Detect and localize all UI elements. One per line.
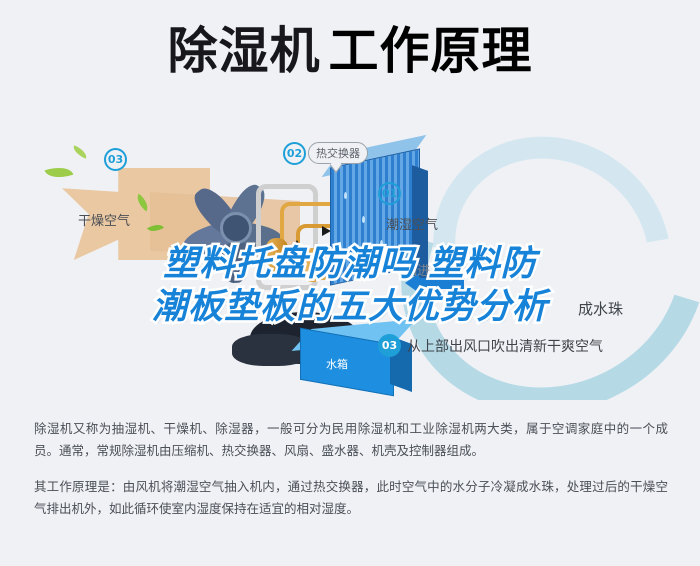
water-droplet-icon [344,192,347,199]
partial-text-intake: 抽进 [404,260,430,279]
fan-hub [220,212,252,244]
page-title: 除湿机工作原理 [0,22,700,80]
callout-number-02: 02 [283,142,306,165]
callout-number-01: 01 [378,182,401,205]
title-secondary: 工作原理 [329,22,533,80]
flow-arrow-up-icon [292,240,302,249]
water-droplet-icon [380,240,383,247]
humid-air-inflow-arrow-icon [418,278,464,289]
water-tank-label: 水箱 [326,356,348,372]
callout-number-03-bottom: 03 [378,334,401,357]
title-primary: 除湿机 [168,22,321,80]
callout-label-heat-exchanger: 热交换器 [308,142,368,164]
callout-bottom-note: 03 从上部出风口吹出清新干爽空气 [378,334,603,357]
poster-root: 除湿机工作原理 [0,0,700,566]
dehumidifier-diagram: 水箱 03 干燥空气 02 热交换器 01 潮湿空气 抽进 成水珠 03 从上部… [0,120,700,400]
water-droplet-icon [352,250,355,257]
article-body: 除湿机又称为抽湿机、干燥机、除湿器，一般可分为民用除湿机和工业除湿机两大类，属于… [34,418,668,534]
callout-label-outlet: 从上部出风口吹出清新干爽空气 [407,336,603,356]
callout-label-dry-air: 干燥空气 [78,210,130,229]
callout-number-03: 03 [104,148,127,171]
compressor-cylinder [266,238,288,280]
leaf-icon [71,145,89,158]
partial-text-condense: 成水珠 [578,298,623,319]
paragraph-principle: 其工作原理是：由风机将潮湿空气抽入机内，通过热交换器，此时空气中的水分子冷凝成水… [34,476,668,520]
leaf-icon [45,162,74,182]
water-droplet-icon [362,216,365,223]
callout-label-humid-air: 潮湿空气 [386,214,438,233]
paragraph-definition: 除湿机又称为抽湿机、干燥机、除湿器，一般可分为民用除湿机和工业除湿机两大类，属于… [34,418,668,462]
compressor-cylinder [304,248,322,282]
